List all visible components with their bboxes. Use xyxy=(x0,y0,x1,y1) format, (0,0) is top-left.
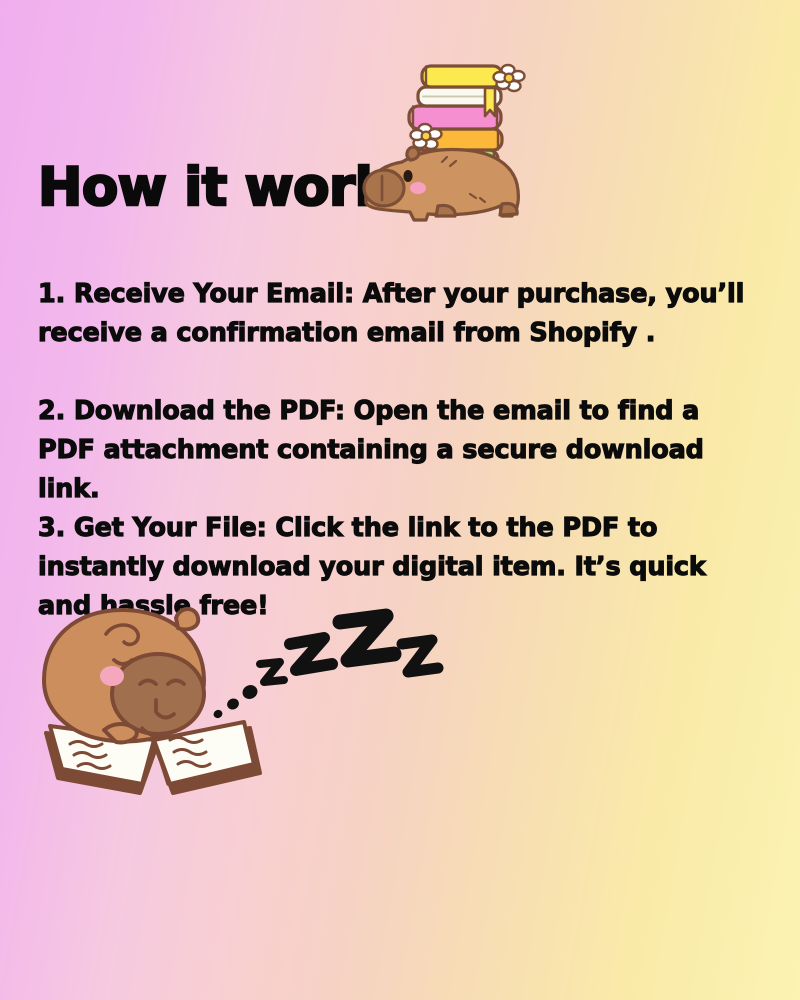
capybara-ear xyxy=(407,147,419,160)
sleeping-capybara-muzzle xyxy=(112,654,204,734)
sleep-zzz-letters xyxy=(260,616,438,682)
poster-canvas: How it works xyxy=(0,0,800,1000)
sleeping-capybara-svg xyxy=(28,588,448,803)
sleeping-capybara-ear xyxy=(176,609,198,630)
capybara-with-book-stack-illustration xyxy=(352,48,552,248)
capybara-eye xyxy=(403,170,412,182)
capybara-blush xyxy=(410,182,426,194)
step-item-2: 2. Download the PDF: Open the email to f… xyxy=(38,392,760,509)
step-item-1: 1. Receive Your Email: After your purcha… xyxy=(38,275,760,353)
capybara-foot-back xyxy=(500,203,517,215)
flower-center xyxy=(422,132,431,141)
capybara-muzzle xyxy=(364,170,404,206)
sleeping-capybara-blush xyxy=(100,666,124,686)
sleeping-capybara-illustration xyxy=(28,588,448,803)
capybara-foot-front xyxy=(436,205,455,216)
bookmark-ribbon xyxy=(485,88,495,116)
flower-center xyxy=(505,74,514,83)
sleep-dots xyxy=(212,683,260,720)
book-yellow xyxy=(422,66,502,87)
capybara-books-svg xyxy=(352,48,552,248)
